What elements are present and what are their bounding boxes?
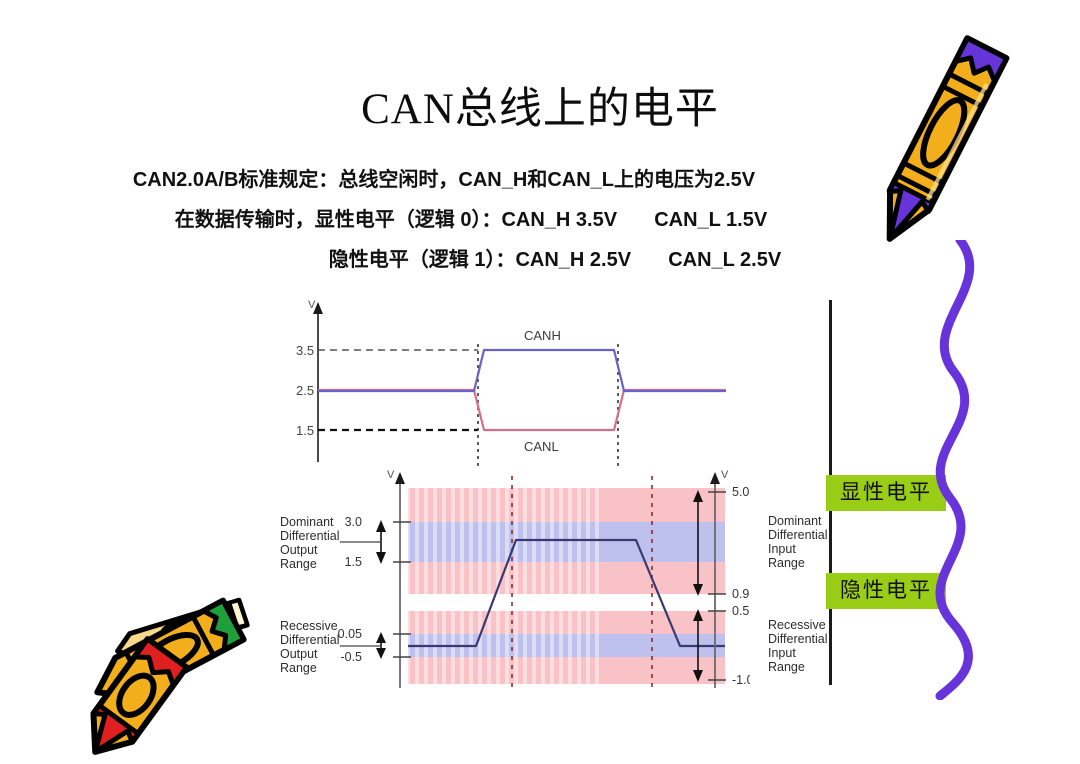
stripe-overlay-lower — [408, 611, 604, 684]
left-recessive-line-2: Differential — [280, 633, 340, 647]
spec-line-3: 隐性电平（逻辑 1）：CAN_H 2.5V CAN_L 2.5V — [0, 240, 880, 280]
y-axis-label: V — [308, 299, 316, 311]
right-dominant-line-4: Range — [768, 556, 828, 570]
chart-differential-voltage-svg: V 3.0 1.5 0.05 -0.5 — [280, 466, 750, 696]
y-tick-2p5: 2.5 — [296, 383, 314, 398]
left-range-label-recessive: Recessive Differential Output Range — [280, 619, 340, 675]
right-tick-label-0p5: 0.5 — [732, 604, 749, 618]
left-tick-label-0p05: 0.05 — [338, 627, 362, 641]
y-tick-3p5: 3.5 — [296, 343, 314, 358]
page-title: CAN总线上的电平 — [0, 74, 1080, 136]
left-recessive-line-3: Output — [280, 647, 318, 661]
chart-bus-voltage-svg: V 3.5 2.5 1.5 CANH CANL — [296, 296, 736, 468]
right-recessive-line-1: Recessive — [768, 618, 828, 632]
spec-line-2-canl: CAN_L 1.5V — [654, 209, 767, 231]
right-dominant-line-3: Input — [768, 542, 828, 556]
right-tick-label-5p0: 5.0 — [732, 485, 749, 499]
left-dominant-line-2: Differential — [280, 529, 340, 543]
slide-canvas: CAN总线上的电平 CAN2.0A/B标准规定：总线空闲时，CAN_H和CAN_… — [0, 0, 1080, 764]
left-axis-label: V — [387, 469, 395, 481]
status-badge-recessive: 隐性电平 — [826, 573, 946, 609]
right-recessive-line-2: Differential — [768, 632, 828, 646]
series-label-canl: CANL — [524, 439, 559, 454]
left-tick-label-3p0: 3.0 — [345, 515, 362, 529]
right-recessive-line-3: Input — [768, 646, 828, 660]
right-axis-label: V — [721, 469, 729, 481]
right-axis-arrow — [710, 472, 720, 484]
status-badge-dominant: 显性电平 — [826, 475, 946, 511]
spec-line-2-dominant: 在数据传输时，显性电平（逻辑 0）：CAN_H 3.5V — [175, 209, 617, 231]
right-tick-label-0p9: 0.9 — [732, 587, 749, 601]
right-range-label-recessive: Recessive Differential Input Range — [768, 618, 828, 674]
left-range-label-dominant: Dominant Differential Output Range — [280, 515, 340, 571]
left-dominant-line-1: Dominant — [280, 515, 334, 529]
left-recessive-line-4: Range — [280, 661, 317, 675]
crayons-bottom-left-icon — [60, 568, 280, 763]
left-recessive-line-1: Recessive — [280, 619, 338, 633]
y-tick-1p5: 1.5 — [296, 423, 314, 438]
right-tick-label-m1p0: -1.0 — [732, 673, 750, 687]
chart-differential-voltage-levels: V 3.0 1.5 0.05 -0.5 — [280, 466, 750, 696]
series-canl-trace — [318, 390, 726, 430]
series-label-canh: CANH — [524, 328, 561, 343]
left-tick-label-m0p5: -0.5 — [340, 650, 362, 664]
spec-line-3-recessive: 隐性电平（逻辑 1）：CAN_H 2.5V — [329, 249, 631, 271]
right-dominant-line-1: Dominant — [768, 514, 828, 528]
spec-text-block: CAN2.0A/B标准规定：总线空闲时，CAN_H和CAN_L上的电压为2.5V… — [0, 160, 880, 280]
right-recessive-line-4: Range — [768, 660, 828, 674]
spec-line-2: 在数据传输时，显性电平（逻辑 0）：CAN_H 3.5V CAN_L 1.5V — [0, 200, 880, 240]
left-tick-label-1p5: 1.5 — [345, 555, 362, 569]
right-dominant-line-2: Differential — [768, 528, 828, 542]
left-axis-arrow — [395, 472, 405, 484]
purple-squiggle-icon — [900, 240, 1040, 705]
band-group — [408, 488, 725, 684]
series-canh-trace — [318, 350, 726, 391]
chart-bus-voltage-levels: V 3.5 2.5 1.5 CANH CANL — [296, 296, 736, 468]
spec-line-3-canl: CAN_L 2.5V — [668, 249, 781, 271]
spec-line-1: CAN2.0A/B标准规定：总线空闲时，CAN_H和CAN_L上的电压为2.5V — [0, 160, 880, 200]
left-dominant-line-4: Range — [280, 557, 317, 571]
right-range-label-dominant: Dominant Differential Input Range — [768, 514, 828, 570]
left-dominant-line-3: Output — [280, 543, 318, 557]
